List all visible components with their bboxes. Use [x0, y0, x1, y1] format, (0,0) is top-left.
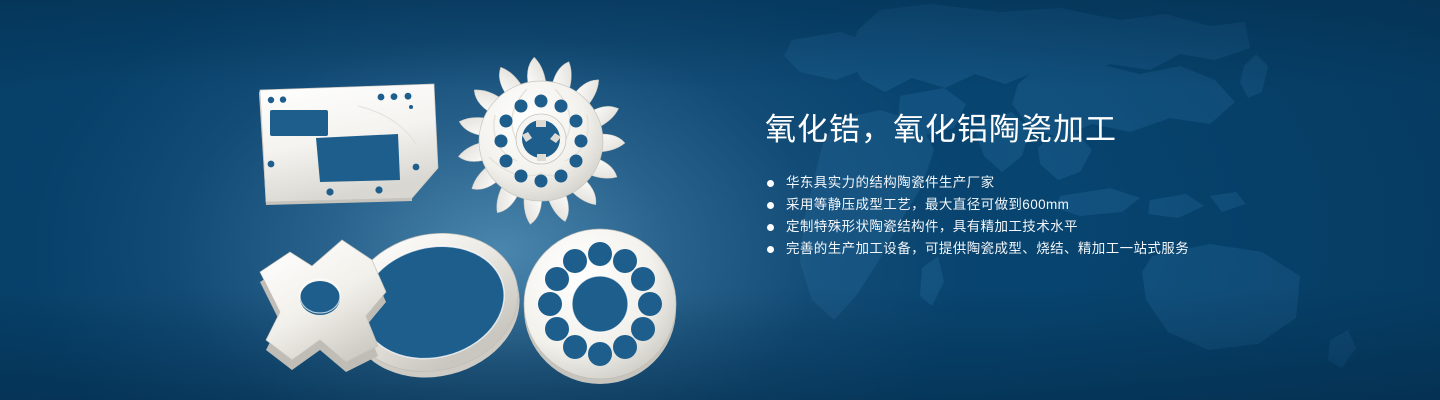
ceramic-hole-disc-image	[518, 222, 683, 387]
feature-text: 完善的生产加工设备，可提供陶瓷成型、烧结、精加工一站式服务	[786, 238, 1189, 260]
hero-banner: 氧化锆，氧化铝陶瓷加工 华东具实力的结构陶瓷件生产厂家 采用等静压成型工艺，最大…	[0, 0, 1440, 400]
feature-text: 采用等静压成型工艺，最大直径可做到600mm	[786, 194, 1069, 216]
bullet-dot-icon	[767, 180, 774, 187]
feature-item: 定制特殊形状陶瓷结构件，具有精加工技术水平	[767, 216, 1365, 238]
ceramic-impeller-image	[446, 46, 636, 236]
feature-item: 采用等静压成型工艺，最大直径可做到600mm	[767, 194, 1365, 216]
ceramic-plate-image	[248, 72, 448, 212]
bullet-dot-icon	[767, 246, 774, 253]
feature-item: 完善的生产加工设备，可提供陶瓷成型、烧结、精加工一站式服务	[767, 238, 1365, 260]
bullet-dot-icon	[767, 202, 774, 209]
banner-copy: 氧化锆，氧化铝陶瓷加工 华东具实力的结构陶瓷件生产厂家 采用等静压成型工艺，最大…	[765, 110, 1365, 260]
feature-item: 华东具实力的结构陶瓷件生产厂家	[767, 172, 1365, 194]
feature-text: 定制特殊形状陶瓷结构件，具有精加工技术水平	[786, 216, 1078, 238]
feature-list: 华东具实力的结构陶瓷件生产厂家 采用等静压成型工艺，最大直径可做到600mm 定…	[767, 172, 1365, 260]
feature-text: 华东具实力的结构陶瓷件生产厂家	[786, 172, 995, 194]
bullet-dot-icon	[767, 224, 774, 231]
ceramic-star-part-image	[246, 228, 436, 378]
banner-headline: 氧化锆，氧化铝陶瓷加工	[765, 110, 1365, 150]
